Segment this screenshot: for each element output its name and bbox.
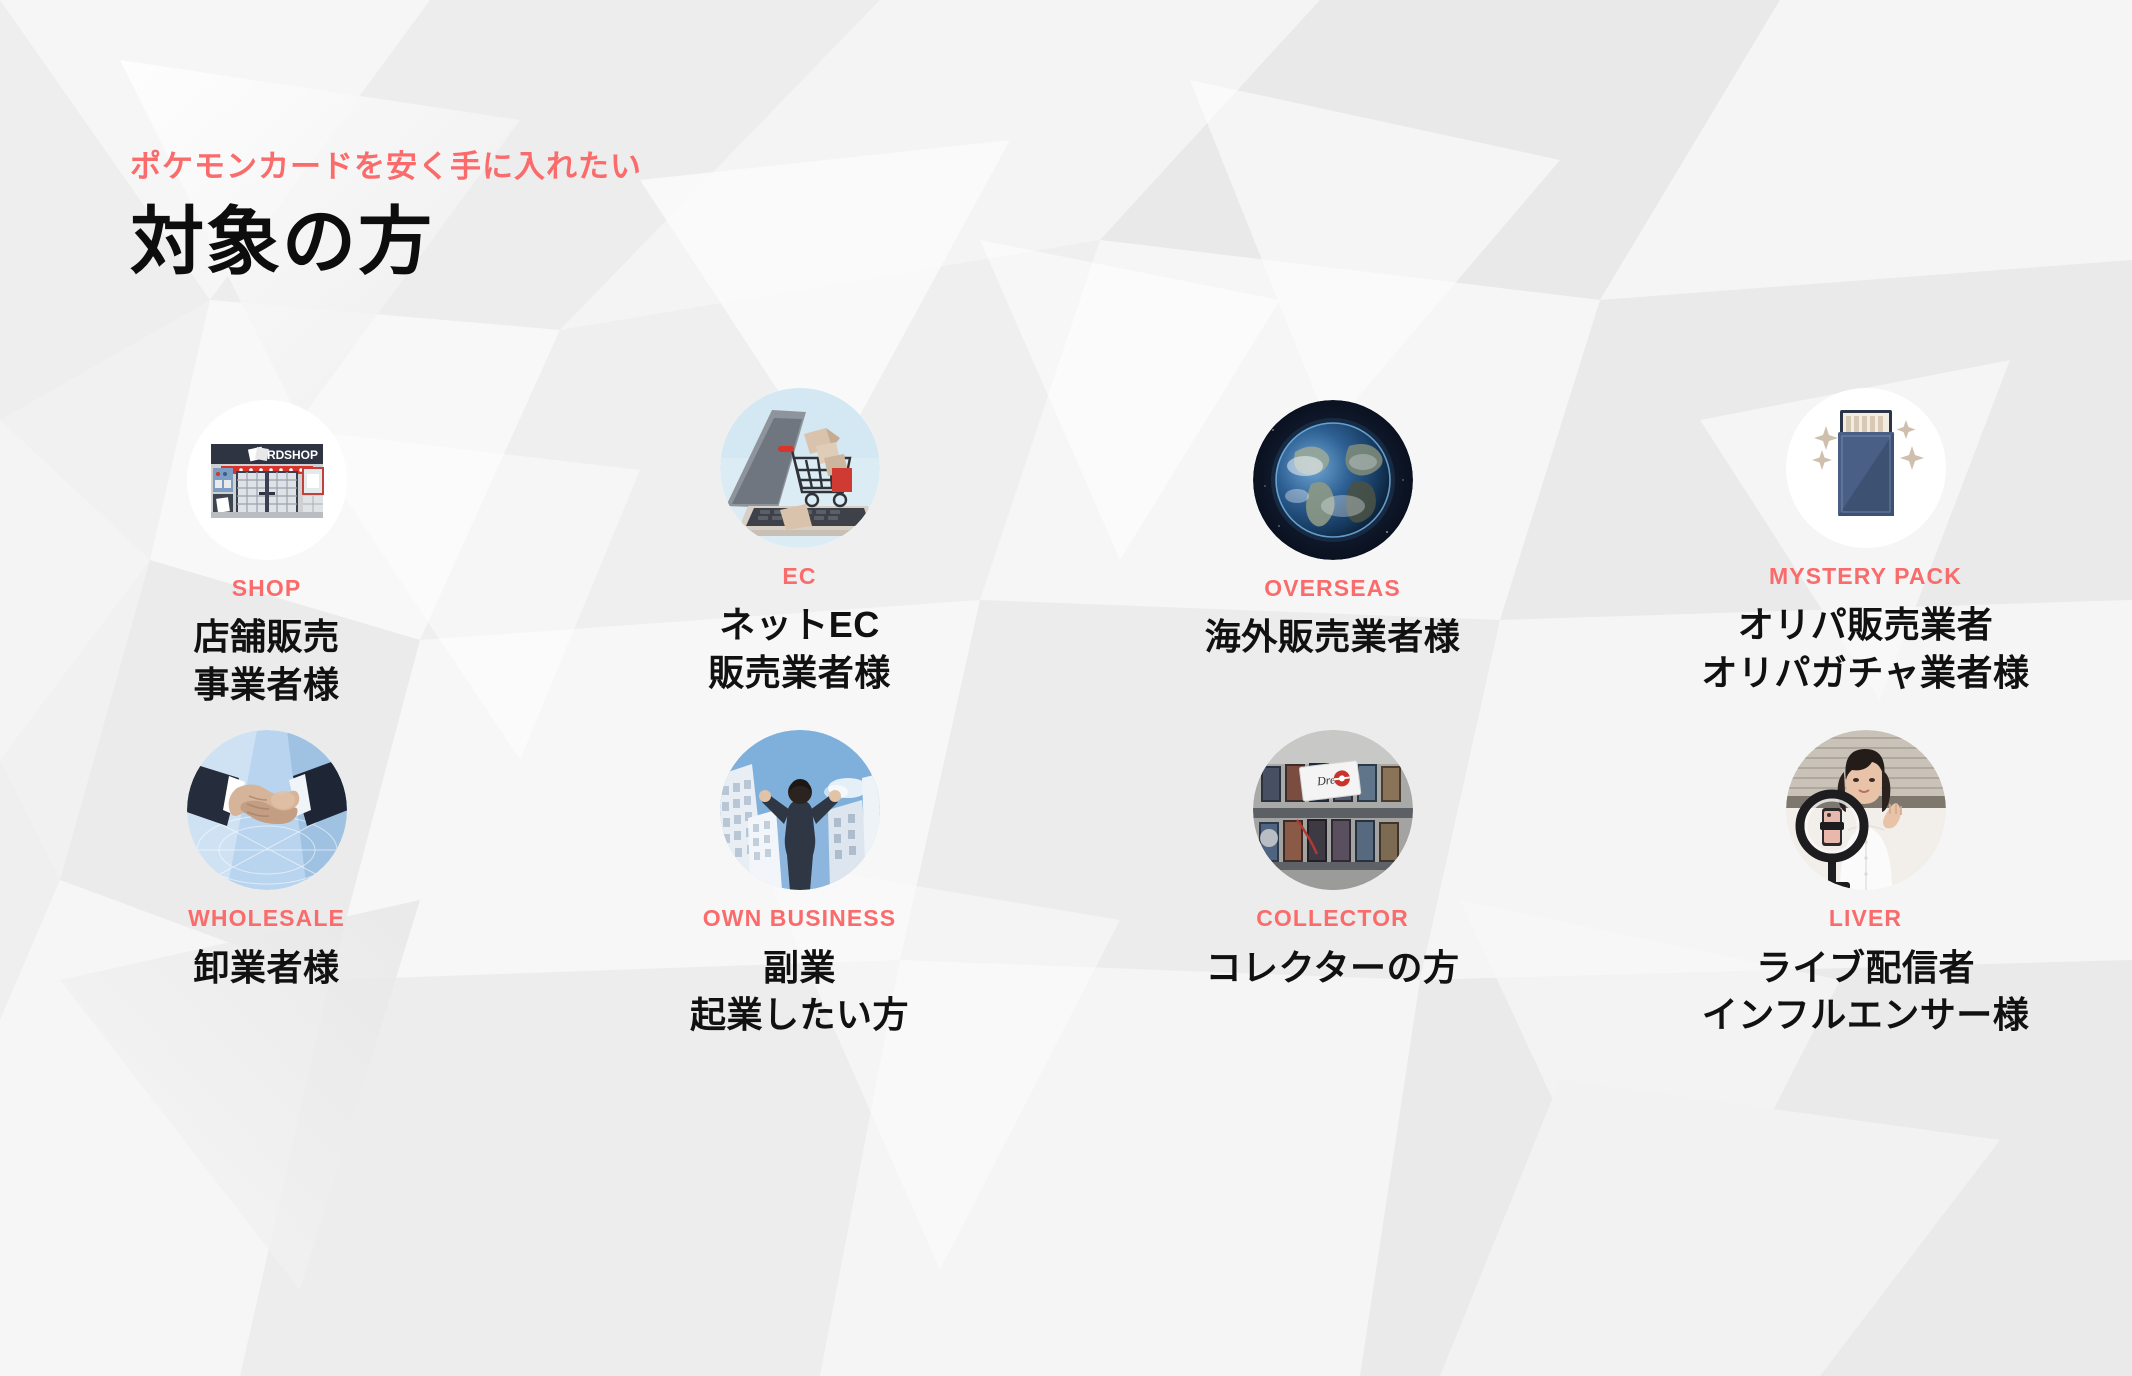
card-shop-storefront-icon: CARD SHOP — [187, 400, 347, 560]
audience-item-liver[interactable]: LIVER ライブ配信者 インフルエンサー様 — [1599, 730, 2132, 1038]
audience-item-wholesale[interactable]: WHOLESALE 卸業者様 — [0, 730, 533, 1038]
audience-item-own-business[interactable]: OWN BUSINESS 副業 起業したい方 — [533, 730, 1066, 1038]
audience-grid: CARD SHOP — [0, 400, 2132, 1039]
audience-item-collector[interactable]: Dre — [1066, 730, 1599, 1038]
audience-row: WHOLESALE 卸業者様 — [0, 730, 2132, 1038]
audience-label: WHOLESALE — [188, 906, 345, 931]
svg-text:SHOP: SHOP — [283, 448, 317, 462]
audience-label: SHOP — [232, 576, 302, 601]
audience-item-mystery-pack[interactable]: MYSTERY PACK オリパ販売業者 オリパガチャ業者様 — [1599, 400, 2132, 708]
section-eyebrow: ポケモンカードを安く手に入れたい — [130, 148, 642, 185]
audience-label: OWN BUSINESS — [703, 906, 896, 931]
audience-label: OVERSEAS — [1264, 576, 1401, 601]
businessman-arms-up-icon — [720, 730, 880, 890]
audience-description: ライブ配信者 インフルエンサー様 — [1702, 944, 2029, 1039]
target-audience-section: ポケモンカードを安く手に入れたい 対象の方 CARD SHOP — [0, 0, 2132, 1376]
svg-text:Dre: Dre — [1315, 773, 1336, 789]
audience-description: 店舗販売 事業者様 — [193, 613, 339, 708]
audience-description: 副業 起業したい方 — [690, 944, 909, 1039]
page-title: 対象の方 — [130, 203, 642, 281]
audience-description: 海外販売業者様 — [1205, 613, 1461, 661]
section-heading-group: ポケモンカードを安く手に入れたい 対象の方 — [130, 148, 642, 281]
audience-label: COLLECTOR — [1256, 906, 1409, 931]
earth-globe-icon — [1253, 400, 1413, 560]
audience-description: オリパ販売業者 オリパガチャ業者様 — [1701, 601, 2029, 696]
handshake-icon — [187, 730, 347, 890]
audience-item-ec[interactable]: EC ネットEC 販売業者様 — [533, 400, 1066, 708]
card-pack-sparkle-icon — [1786, 388, 1946, 548]
card-display-wall-icon: Dre — [1253, 730, 1413, 890]
audience-label: MYSTERY PACK — [1769, 564, 1962, 589]
ring-light-streamer-icon — [1786, 730, 1946, 890]
audience-description: ネットEC 販売業者様 — [708, 601, 891, 696]
audience-item-overseas[interactable]: OVERSEAS 海外販売業者様 — [1066, 400, 1599, 708]
audience-description: 卸業者様 — [193, 944, 339, 992]
laptop-shopping-cart-icon — [720, 388, 880, 548]
audience-description: コレクターの方 — [1205, 944, 1459, 992]
audience-row: CARD SHOP — [0, 400, 2132, 708]
audience-label: LIVER — [1829, 906, 1902, 931]
audience-label: EC — [782, 564, 816, 589]
audience-item-shop[interactable]: CARD SHOP — [0, 400, 533, 708]
